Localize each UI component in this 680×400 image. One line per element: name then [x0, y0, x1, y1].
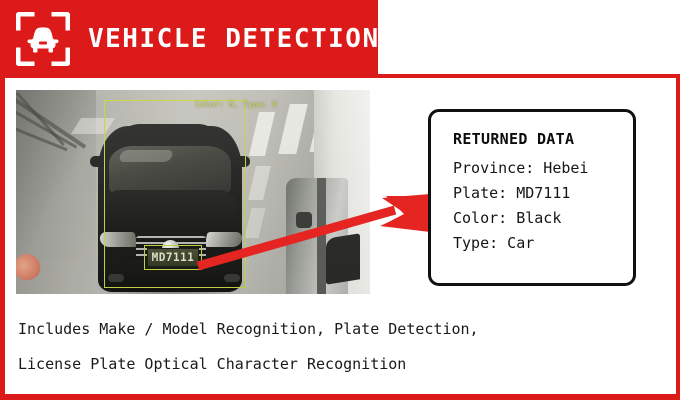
frame-bottom-bar	[0, 394, 680, 400]
license-plate: MD7111	[147, 248, 199, 267]
vehicle-scan-icon	[16, 12, 70, 66]
vehicle-mirror-right	[234, 156, 250, 167]
data-row-color: Color: Black	[453, 206, 633, 231]
footer-caption: Includes Make / Model Recognition, Plate…	[18, 312, 658, 382]
secondary-vehicle-window	[326, 233, 360, 284]
caption-line-2: License Plate Optical Character Recognit…	[18, 347, 658, 382]
headlight-left	[99, 232, 138, 247]
headlight-right	[205, 232, 244, 247]
foglight-right	[224, 274, 240, 282]
data-row-province: Province: Hebei	[453, 156, 633, 181]
page-title: VEHICLE DETECTION	[88, 24, 380, 54]
vehicle-detection-infographic: VEHICLE DETECTION	[0, 0, 680, 400]
vehicle-hood	[104, 190, 236, 236]
windshield-glare	[118, 150, 174, 162]
returned-data-title: RETURNED DATA	[453, 130, 633, 148]
license-plate-text: MD7111	[152, 251, 195, 265]
data-row-type: Type: Car	[453, 231, 633, 256]
returned-data-box: RETURNED DATA Province: Hebei Plate: MD7…	[428, 109, 636, 286]
data-row-plate: Plate: MD7111	[453, 181, 633, 206]
foglight-left	[108, 274, 124, 282]
secondary-vehicle-mirror	[296, 212, 312, 228]
frame-right-bar	[676, 76, 680, 400]
caption-line-1: Includes Make / Model Recognition, Plate…	[18, 312, 658, 347]
frame-top-rule	[370, 74, 680, 78]
vehicle-mirror-left	[90, 156, 106, 167]
secondary-vehicle-pillar	[317, 178, 326, 294]
detection-photo: MD7111 Color: 6, Type: 0	[16, 90, 370, 294]
header-banner: VEHICLE DETECTION	[0, 0, 378, 78]
